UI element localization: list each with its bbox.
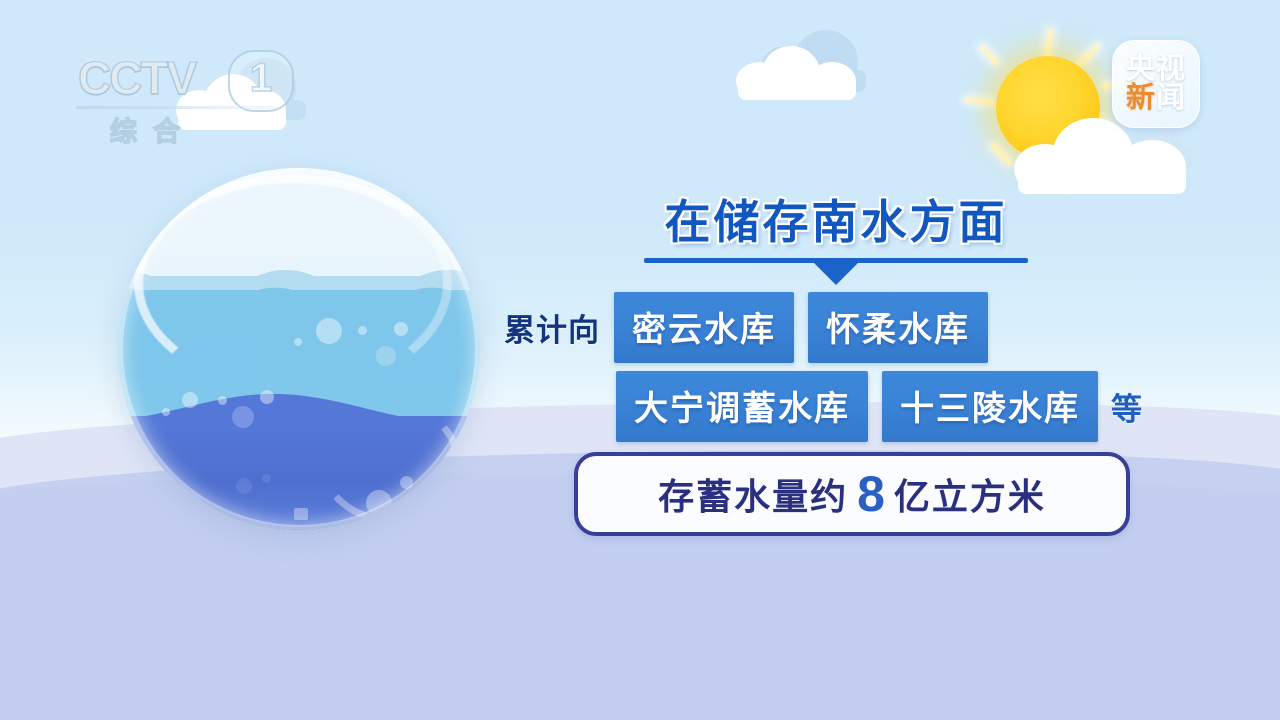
- cctv-news-badge: 央 视 新 闻: [1112, 40, 1200, 128]
- summary-text-before: 存蓄水量约: [658, 468, 848, 520]
- bubble: [294, 338, 302, 346]
- channel-sub-label: 综合: [110, 110, 196, 149]
- reservoir-tag-huairou[interactable]: 怀柔水库: [808, 292, 988, 363]
- bubble: [162, 408, 170, 416]
- sphere-contents: [118, 168, 480, 530]
- headline-block: 在储存南水方面: [636, 186, 1036, 285]
- news-char-3: 新: [1126, 84, 1156, 113]
- bubble: [316, 318, 342, 344]
- reservoir-row-2: 大宁调蓄水库 十三陵水库 等: [616, 371, 1143, 442]
- bubble: [182, 392, 198, 408]
- cloud-icon: [1014, 118, 1194, 194]
- bubble: [260, 390, 274, 404]
- channel-number-badge: 1: [228, 50, 294, 112]
- sphere-gloss-dot: [400, 476, 413, 489]
- sphere-gloss-dot: [294, 508, 308, 520]
- summary-number: 8: [857, 469, 885, 519]
- suffix-label: 等: [1111, 384, 1143, 429]
- bubble: [218, 396, 227, 405]
- headline-arrow-icon: [814, 263, 858, 285]
- news-char-4: 闻: [1156, 84, 1186, 113]
- broadcast-graphic-stage: CCTV 1 综合 央 视 新 闻: [0, 0, 1280, 720]
- sphere-gloss-dot: [366, 490, 392, 516]
- news-char-2: 视: [1156, 55, 1186, 84]
- reservoir-tag-shisanling[interactable]: 十三陵水库: [882, 371, 1098, 442]
- channel-number: 1: [230, 56, 292, 101]
- summary-pill: 存蓄水量约 8 亿立方米: [574, 452, 1130, 536]
- prefix-label: 累计向: [504, 305, 600, 350]
- bubble: [394, 322, 408, 336]
- news-badge-line1: 央 视: [1126, 55, 1186, 84]
- reservoir-tag-daning[interactable]: 大宁调蓄水库: [616, 371, 868, 442]
- bubble: [262, 474, 271, 483]
- reservoir-tag-miyun[interactable]: 密云水库: [614, 292, 794, 363]
- summary-text-after: 亿立方米: [894, 468, 1046, 520]
- cctv-channel-logo: CCTV 1 综合: [78, 52, 308, 142]
- news-badge-line2: 新 闻: [1126, 84, 1186, 113]
- logo-divider: [76, 106, 281, 109]
- bubble: [236, 478, 252, 494]
- water-sphere-icon: [118, 168, 480, 530]
- news-char-1: 央: [1126, 55, 1156, 84]
- bubble: [358, 326, 367, 335]
- reservoir-row-1: 累计向 密云水库 怀柔水库: [504, 292, 988, 363]
- page-title: 在储存南水方面: [636, 186, 1036, 252]
- cloud-icon: [736, 44, 866, 100]
- bubble: [376, 346, 396, 366]
- bubble: [232, 406, 254, 428]
